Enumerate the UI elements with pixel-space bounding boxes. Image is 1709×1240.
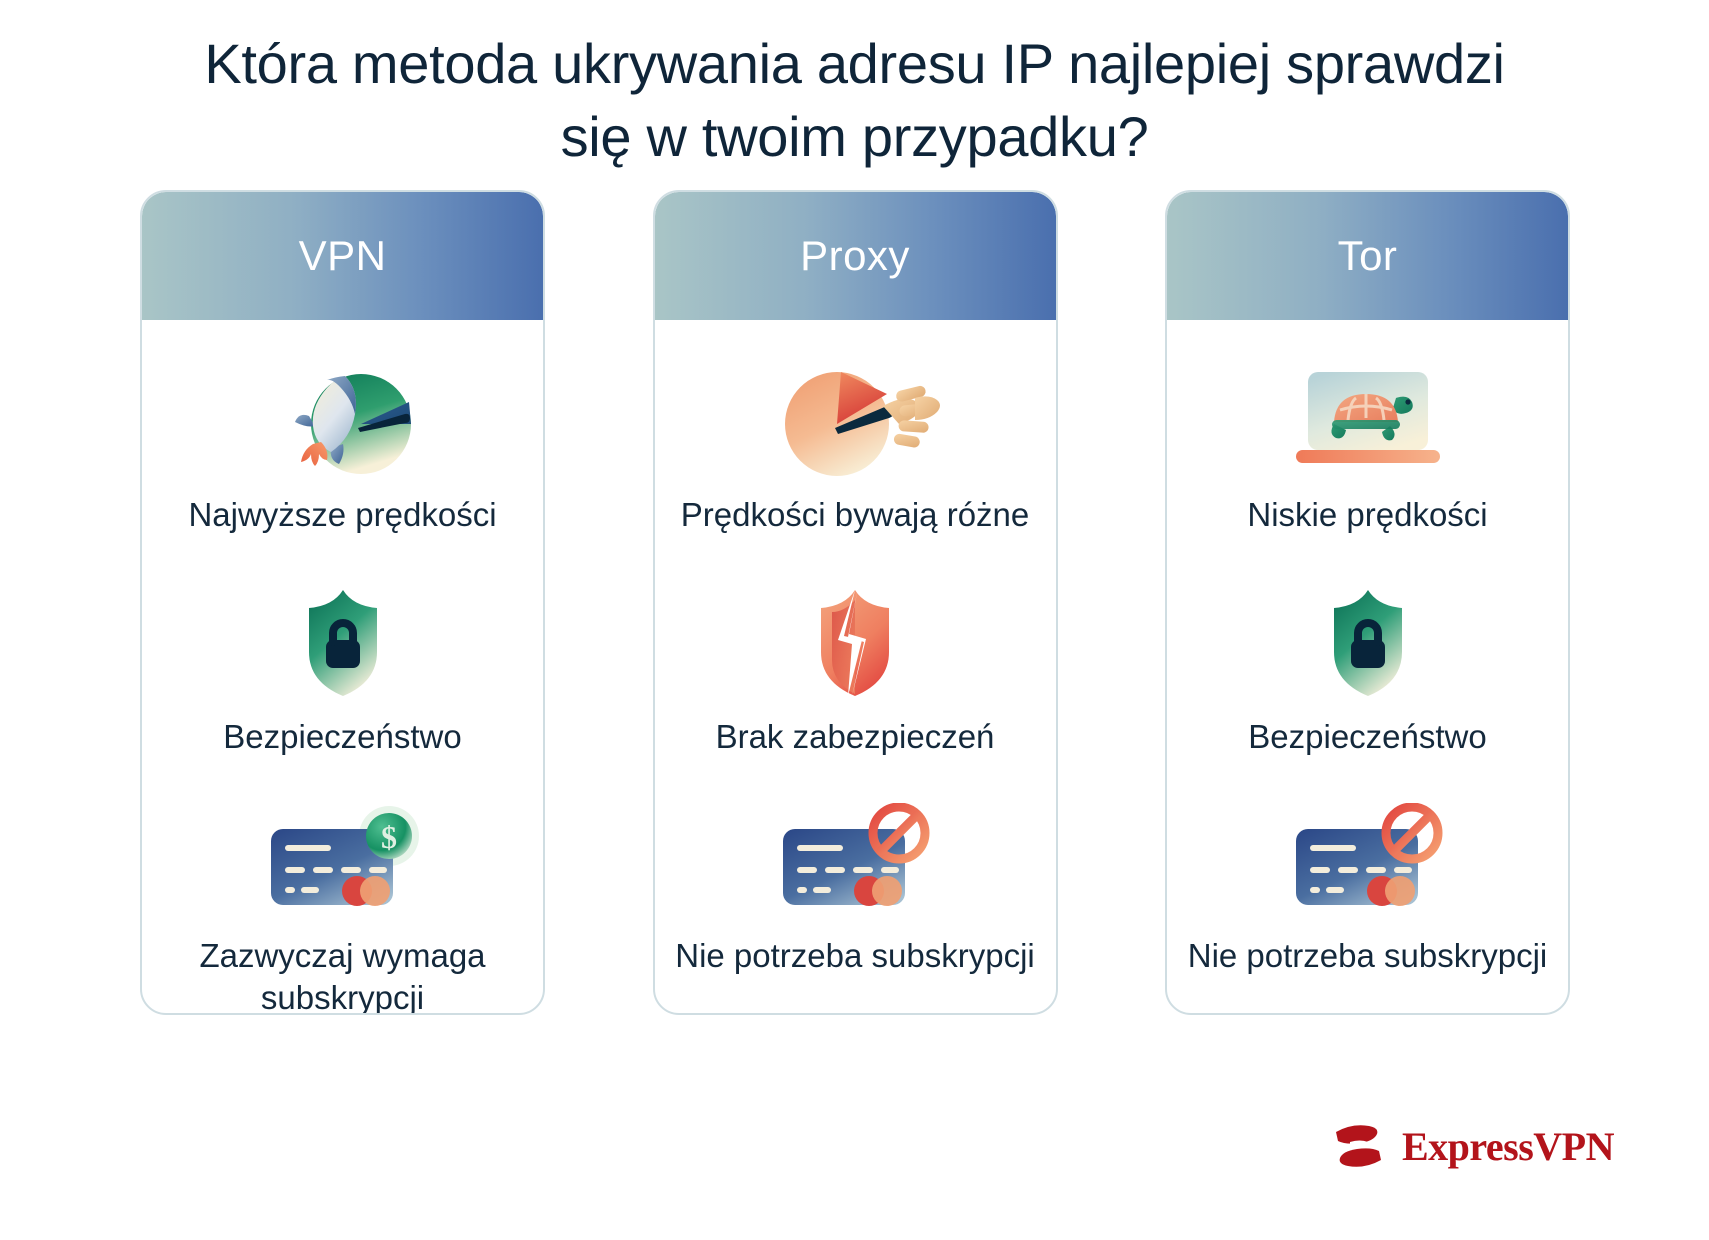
rocket-speedometer-icon: [253, 360, 433, 482]
feature-label: Prędkości bywają różne: [681, 494, 1030, 536]
credit-card-dollar-icon: $: [253, 801, 433, 923]
svg-text:$: $: [381, 819, 397, 855]
feature-label: Bezpieczeństwo: [1248, 716, 1486, 758]
speedometer-hand-icon: [765, 360, 945, 482]
feature-tor-subscription: Nie potrzeba subskrypcji: [1185, 801, 1550, 977]
feature-tor-security: Bezpieczeństwo: [1185, 582, 1550, 758]
card-body-vpn: Najwyższe prędkości: [142, 320, 543, 1015]
shield-lock-icon: [288, 582, 398, 704]
card-body-proxy: Prędkości bywają różne: [655, 320, 1056, 1013]
feature-vpn-subscription: $ Zazwyczaj wymaga subskrypcji: [160, 801, 525, 1015]
feature-label: Najwyższe prędkości: [188, 494, 496, 536]
card-tor: Tor: [1165, 190, 1570, 1015]
card-title-vpn: VPN: [299, 232, 387, 280]
shield-lock-icon: [1313, 582, 1423, 704]
feature-vpn-security: Bezpieczeństwo: [160, 582, 525, 758]
feature-tor-speed: Niskie prędkości: [1185, 360, 1550, 536]
feature-label: Zazwyczaj wymaga subskrypcji: [160, 935, 525, 1015]
card-title-proxy: Proxy: [800, 232, 910, 280]
card-title-tor: Tor: [1338, 232, 1398, 280]
credit-card-prohibited-icon: [1278, 801, 1458, 923]
feature-label: Niskie prędkości: [1247, 494, 1487, 536]
logo-text: ExpressVPN: [1402, 1123, 1614, 1170]
card-body-tor: Niskie prędkości: [1167, 320, 1568, 1013]
feature-proxy-subscription: Nie potrzeba subskrypcji: [673, 801, 1038, 977]
laptop-turtle-icon: [1278, 360, 1458, 482]
credit-card-prohibited-icon: [765, 801, 945, 923]
feature-vpn-speed: Najwyższe prędkości: [160, 360, 525, 536]
feature-label: Nie potrzeba subskrypcji: [675, 935, 1035, 977]
expressvpn-e-mark: [1328, 1120, 1390, 1172]
infographic-page: Która metoda ukrywania adresu IP najlepi…: [0, 0, 1709, 1240]
card-vpn: VPN: [140, 190, 545, 1015]
feature-label: Brak zabezpieczeń: [716, 716, 995, 758]
expressvpn-logo: ExpressVPN: [1328, 1120, 1614, 1172]
feature-proxy-security: Brak zabezpieczeń: [673, 582, 1038, 758]
page-title: Która metoda ukrywania adresu IP najlepi…: [0, 28, 1709, 174]
card-header-proxy: Proxy: [655, 192, 1056, 320]
broken-shield-icon: [800, 582, 910, 704]
card-header-vpn: VPN: [142, 192, 543, 320]
feature-label: Nie potrzeba subskrypcji: [1188, 935, 1548, 977]
feature-label: Bezpieczeństwo: [223, 716, 461, 758]
card-proxy: Proxy: [653, 190, 1058, 1015]
card-header-tor: Tor: [1167, 192, 1568, 320]
feature-proxy-speed: Prędkości bywają różne: [673, 360, 1038, 536]
comparison-cards: VPN: [140, 190, 1570, 1015]
